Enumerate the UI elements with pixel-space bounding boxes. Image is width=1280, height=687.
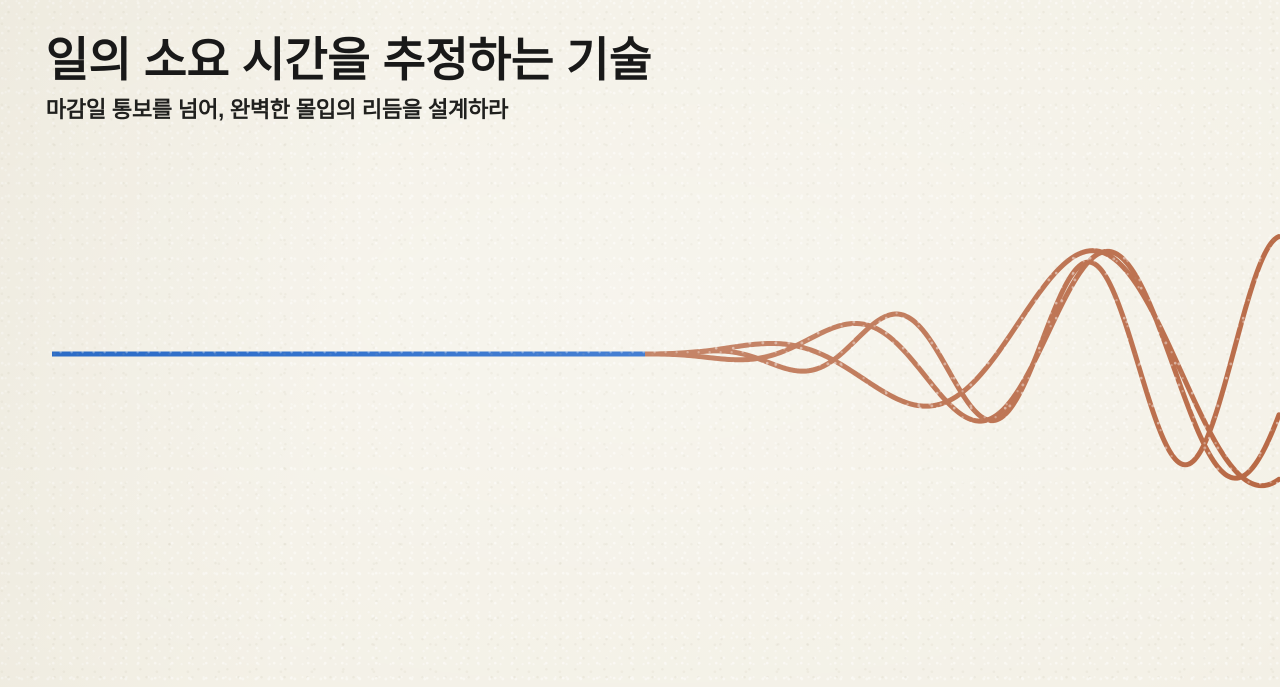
header-block: 일의 소요 시간을 추정하는 기술 마감일 통보를 넘어, 완벽한 몰입의 리듬…	[46, 34, 946, 123]
medium-wave-path	[645, 251, 1279, 478]
page-subtitle: 마감일 통보를 넘어, 완벽한 몰입의 리듬을 설계하라	[46, 97, 946, 123]
poster-canvas: 일의 소요 시간을 추정하는 기술 마감일 통보를 넘어, 완벽한 몰입의 리듬…	[0, 0, 1280, 687]
page-title: 일의 소요 시간을 추정하는 기술	[46, 34, 946, 87]
wave-group	[645, 237, 1279, 486]
narrow-wave-path	[645, 237, 1279, 465]
wide-wave-path	[645, 251, 1279, 486]
